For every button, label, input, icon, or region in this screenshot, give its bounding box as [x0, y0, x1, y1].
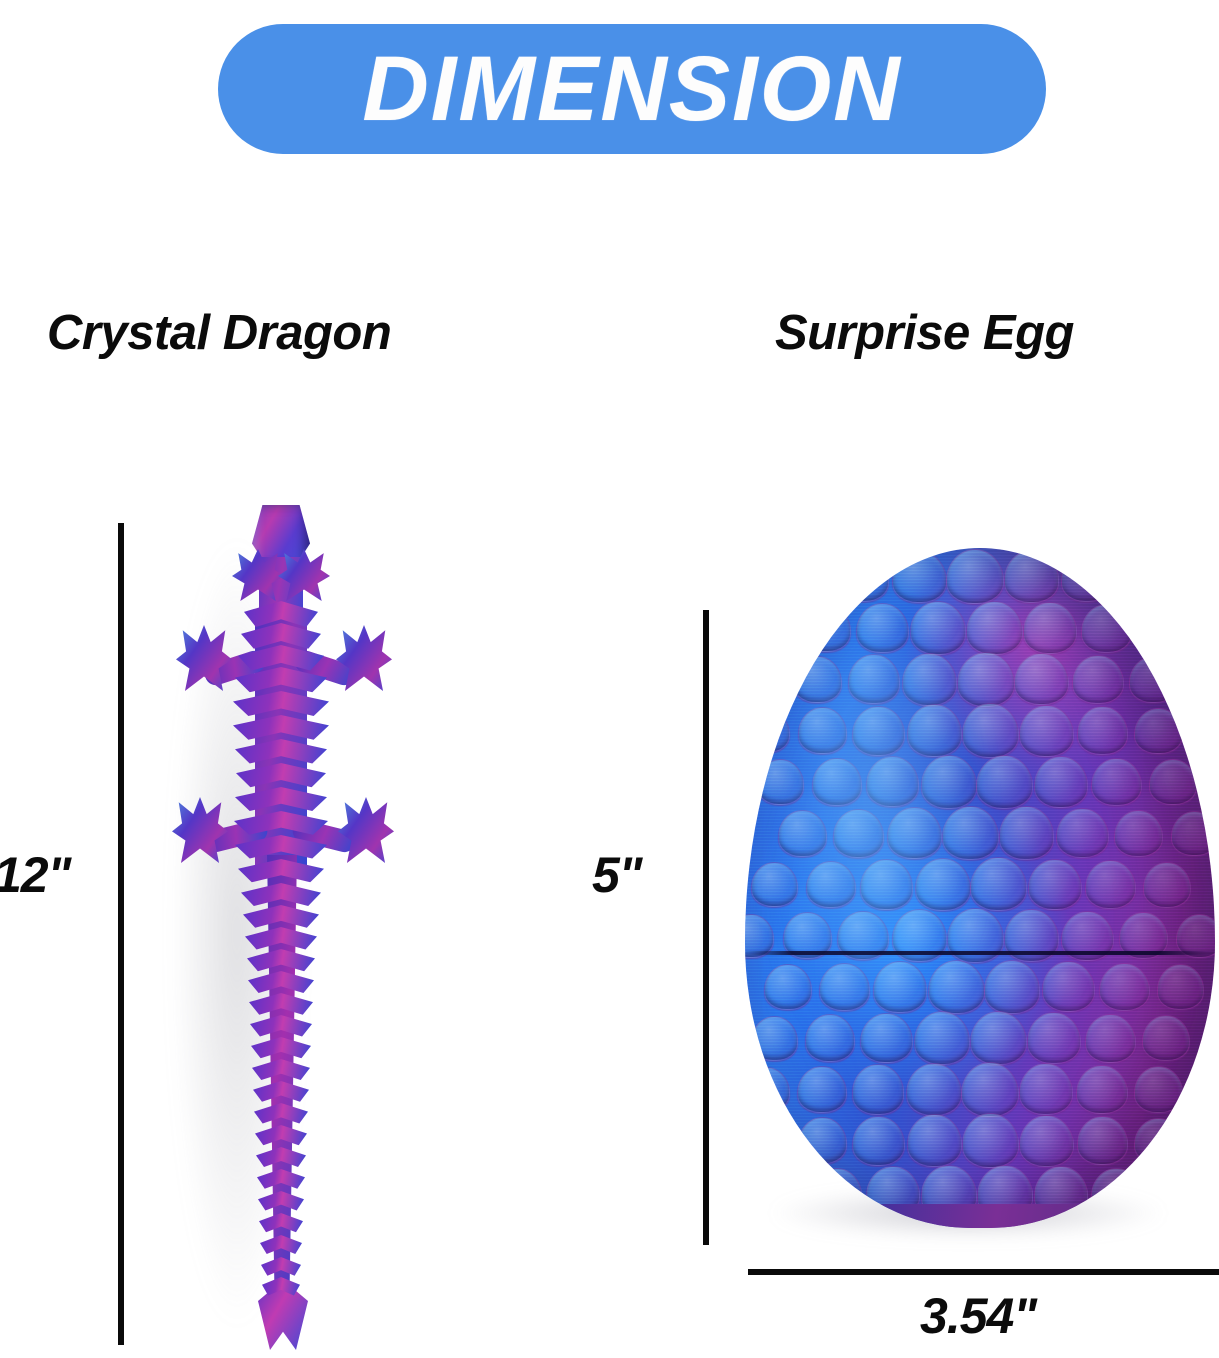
egg-height-rule: [703, 610, 709, 1245]
egg-width-rule: [748, 1269, 1219, 1275]
dragon-height-rule: [118, 523, 124, 1345]
dimension-banner: DIMENSION: [218, 24, 1046, 154]
egg-seam-line: [745, 951, 1215, 955]
dragon-height-label: 12": [0, 846, 70, 904]
crystal-dragon-image: [160, 505, 410, 1350]
product-title-surprise-egg: Surprise Egg: [775, 305, 1074, 361]
egg-body: [745, 548, 1215, 1228]
egg-print-layer-lines: [745, 548, 1215, 1228]
egg-height-label: 5": [592, 846, 642, 904]
dragon-hind-claw-right: [338, 797, 394, 863]
surprise-egg-image: [735, 548, 1219, 1248]
banner-title: DIMENSION: [362, 43, 901, 135]
product-title-crystal-dragon: Crystal Dragon: [47, 305, 391, 361]
egg-width-label: 3.54": [920, 1287, 1036, 1345]
